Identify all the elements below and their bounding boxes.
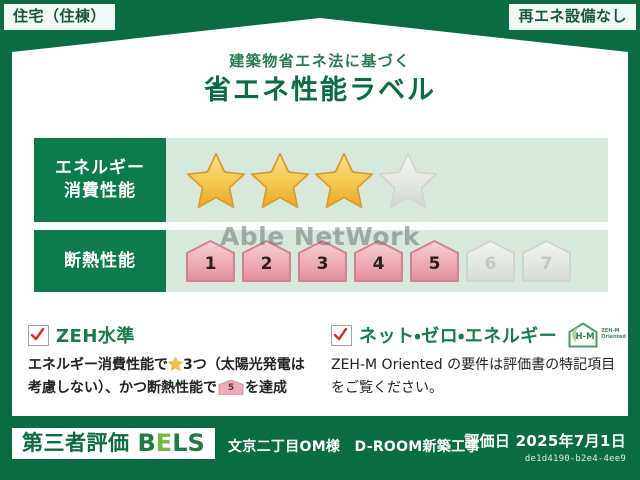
note-zeh-standard: ZEH水準 エネルギー消費性能で 3つ（太陽光発電は考慮しない）、かつ断熱性能で…: [28, 322, 323, 399]
evaluation-id: de1d4190-b2e4-4ee9: [464, 454, 626, 464]
insulation-house-filled: 2: [240, 239, 293, 283]
title-block: 建築物省エネ法に基づく 省エネ性能ラベル: [12, 52, 628, 108]
bels-letter-e: E: [156, 429, 172, 457]
bels-jp-label: 第三者評価: [22, 433, 130, 454]
bels-en-label: BELS: [138, 431, 205, 455]
rating-row-energy: エネルギー 消費性能: [34, 138, 608, 222]
checkbox-net-zero-energy[interactable]: [331, 325, 352, 346]
insulation-house-empty: 7: [520, 239, 573, 283]
note-zeh-standard-body: エネルギー消費性能で 3つ（太陽光発電は考慮しない）、かつ断熱性能で 5 を達成: [28, 354, 315, 399]
note-net-zero-body: ZEH-M Oriented の要件は評価書の特記項目をご覧ください。: [331, 354, 618, 399]
star-empty-icon: [378, 151, 438, 209]
inline-star-icon: [168, 356, 183, 371]
note-net-zero-energy: ネット・ゼロ・エネルギー H-M ZEH-M Oriented ZEH-M Or…: [323, 322, 618, 399]
checkbox-zeh-standard[interactable]: [28, 325, 49, 346]
star-filled-icon: [314, 151, 374, 209]
note-zeh-standard-header: ZEH水準: [28, 322, 315, 348]
energy-performance-label: 住宅（住棟） 再エネ設備なし 建築物省エネ法に基づく 省エネ性能ラベル エネルギ…: [0, 0, 640, 480]
energy-star-rating: [166, 138, 608, 222]
rating-label-insulation-line1: 断熱性能: [64, 250, 136, 273]
insulation-house-filled: 5: [408, 239, 461, 283]
svg-text:H-M: H-M: [576, 332, 595, 342]
note-zeh-standard-title: ZEH水準: [56, 322, 135, 348]
bels-letter-b: B: [138, 429, 156, 457]
evaluation-info: 評価日 2025年7月1日 de1d4190-b2e4-4ee9: [464, 430, 626, 464]
zeh-m-logo-caption: ZEH-M Oriented: [601, 329, 626, 341]
insulation-house-level-value: 4: [352, 256, 405, 273]
zeh-m-house-icon: H-M: [568, 322, 598, 348]
insulation-house-filled: 3: [296, 239, 349, 283]
insulation-house-level-value: 3: [296, 256, 349, 273]
bels-logo: 第三者評価 BELS: [12, 428, 215, 459]
page-title: 省エネ性能ラベル: [12, 73, 628, 108]
title-subtitle: 建築物省エネ法に基づく: [12, 52, 628, 70]
insulation-house-level-value: 7: [520, 256, 573, 273]
inline-level-chip-value: 5: [218, 384, 244, 393]
bels-letter-l: L: [172, 429, 187, 457]
insulation-level-rating: 1234567: [166, 230, 608, 292]
star-filled-icon: [186, 151, 246, 209]
note-net-zero-title: ネット・ゼロ・エネルギー: [359, 322, 557, 348]
footer-bar: 第三者評価 BELS 文京二丁目OM様 D-ROOM新築工事 評価日 2025年…: [0, 422, 640, 480]
rating-label-energy: エネルギー 消費性能: [34, 138, 166, 222]
insulation-house-level-value: 5: [408, 256, 461, 273]
zeh-m-logo-line2: Oriented: [601, 334, 626, 340]
badge-building-type: 住宅（住棟）: [4, 4, 115, 30]
note-zeh-text-part3: を達成: [245, 380, 287, 396]
rating-label-energy-line2: 消費性能: [64, 180, 136, 203]
project-name: 文京二丁目OM様 D-ROOM新築工事: [228, 436, 480, 456]
ratings-block: エネルギー 消費性能 断熱性能 1234567: [34, 138, 608, 300]
rating-label-energy-line1: エネルギー: [55, 157, 145, 180]
evaluation-date: 評価日 2025年7月1日: [464, 430, 626, 451]
insulation-house-level-value: 1: [184, 256, 237, 273]
note-zeh-text-part1: エネルギー消費性能で: [28, 357, 168, 373]
insulation-house-empty: 6: [464, 239, 517, 283]
bels-letter-s: S: [188, 429, 205, 457]
rating-label-insulation: 断熱性能: [34, 230, 166, 292]
notes-block: ZEH水準 エネルギー消費性能で 3つ（太陽光発電は考慮しない）、かつ断熱性能で…: [28, 322, 618, 399]
rating-row-insulation: 断熱性能 1234567: [34, 230, 608, 292]
insulation-house-filled: 1: [184, 239, 237, 283]
badge-renewable-equipment: 再エネ設備なし: [509, 4, 636, 30]
insulation-house-level-value: 6: [464, 256, 517, 273]
star-filled-icon: [250, 151, 310, 209]
insulation-house-level-value: 2: [240, 256, 293, 273]
note-net-zero-header: ネット・ゼロ・エネルギー H-M ZEH-M Oriented: [331, 322, 618, 348]
insulation-house-filled: 4: [352, 239, 405, 283]
zeh-m-oriented-logo: H-M ZEH-M Oriented: [568, 322, 626, 348]
inline-level-chip: 5: [218, 380, 244, 395]
